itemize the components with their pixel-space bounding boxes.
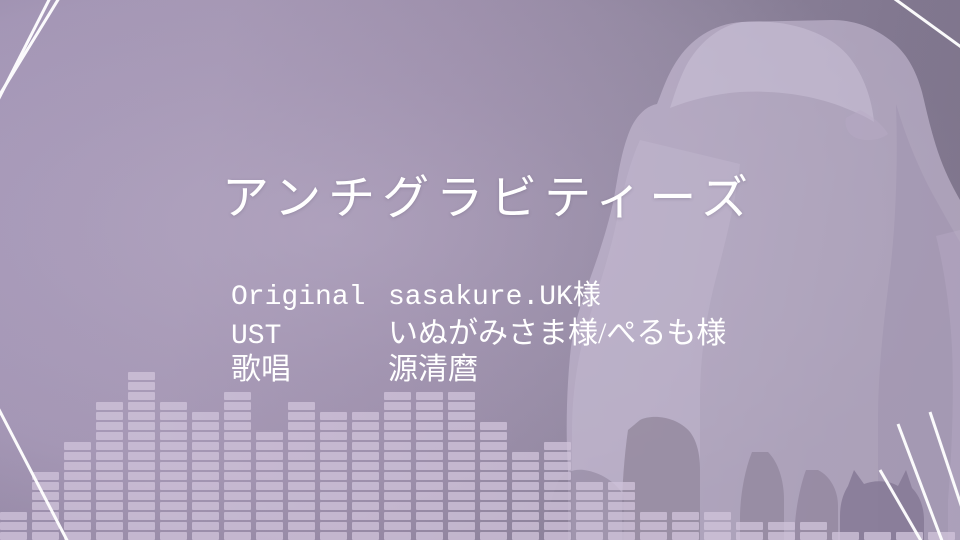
equalizer-bar <box>352 412 379 540</box>
equalizer-segment <box>448 412 475 420</box>
equalizer-segment <box>736 532 763 540</box>
equalizer-bar <box>640 512 667 540</box>
equalizer-segment <box>256 462 283 470</box>
equalizer-segment <box>32 482 59 490</box>
equalizer-segment <box>448 402 475 410</box>
equalizer-segment <box>416 402 443 410</box>
equalizer-segment <box>224 442 251 450</box>
equalizer-segment <box>128 402 155 410</box>
equalizer-segment <box>128 422 155 430</box>
equalizer-segment <box>352 422 379 430</box>
equalizer-segment <box>64 532 91 540</box>
equalizer-bar <box>896 532 923 540</box>
equalizer-bar <box>576 482 603 540</box>
equalizer-bar <box>800 522 827 540</box>
equalizer-segment <box>480 432 507 440</box>
equalizer-segment <box>608 522 635 530</box>
equalizer-segment <box>256 452 283 460</box>
equalizer-bar <box>384 392 411 540</box>
equalizer-segment <box>96 412 123 420</box>
equalizer-segment <box>672 532 699 540</box>
equalizer-segment <box>64 492 91 500</box>
equalizer-segment <box>64 522 91 530</box>
equalizer-segment <box>512 532 539 540</box>
equalizer-segment <box>160 432 187 440</box>
equalizer-segment <box>96 522 123 530</box>
credit-role-label: UST <box>231 319 388 355</box>
equalizer-segment <box>320 422 347 430</box>
equalizer-segment <box>352 472 379 480</box>
equalizer-segment <box>288 422 315 430</box>
equalizer-segment <box>576 502 603 510</box>
equalizer-segment <box>32 532 59 540</box>
equalizer-segment <box>384 392 411 400</box>
equalizer-segment <box>544 462 571 470</box>
equalizer-segment <box>128 392 155 400</box>
equalizer-segment <box>224 472 251 480</box>
equalizer-segment <box>64 452 91 460</box>
equalizer-segment <box>256 472 283 480</box>
equalizer-segment <box>704 532 731 540</box>
equalizer-segment <box>160 522 187 530</box>
equalizer-segment <box>192 432 219 440</box>
equalizer-segment <box>352 432 379 440</box>
credit-role-label: Original <box>231 280 388 316</box>
equalizer-segment <box>352 452 379 460</box>
equalizer-segment <box>416 432 443 440</box>
equalizer-segment <box>224 392 251 400</box>
equalizer-segment <box>192 452 219 460</box>
equalizer-segment <box>800 522 827 530</box>
equalizer-segment <box>256 482 283 490</box>
equalizer-segment <box>256 442 283 450</box>
equalizer-segment <box>128 482 155 490</box>
equalizer-segment <box>96 422 123 430</box>
equalizer-segment <box>768 522 795 530</box>
equalizer-segment <box>160 502 187 510</box>
equalizer-segment <box>192 502 219 510</box>
equalizer-segment <box>896 532 923 540</box>
credit-row: Original sasakure.UK様 <box>231 280 726 316</box>
equalizer-segment <box>416 392 443 400</box>
equalizer-segment <box>608 512 635 520</box>
equalizer-segment <box>288 432 315 440</box>
equalizer-segment <box>256 432 283 440</box>
equalizer-bar <box>192 412 219 540</box>
equalizer-bar <box>448 392 475 540</box>
equalizer-segment <box>224 512 251 520</box>
equalizer-segment <box>480 442 507 450</box>
credit-value-label: sasakure.UK様 <box>388 280 601 316</box>
equalizer-segment <box>544 482 571 490</box>
equalizer-segment <box>96 532 123 540</box>
equalizer-segment <box>192 412 219 420</box>
equalizer-segment <box>224 402 251 410</box>
equalizer-segment <box>288 482 315 490</box>
equalizer-segment <box>384 402 411 410</box>
equalizer-segment <box>128 522 155 530</box>
equalizer-segment <box>768 532 795 540</box>
equalizer-segment <box>224 522 251 530</box>
equalizer-segment <box>192 532 219 540</box>
equalizer-segment <box>224 412 251 420</box>
equalizer-segment <box>128 372 155 380</box>
equalizer-segment <box>384 462 411 470</box>
equalizer-segment <box>64 442 91 450</box>
equalizer-segment <box>704 522 731 530</box>
equalizer-segment <box>544 442 571 450</box>
equalizer-segment <box>512 522 539 530</box>
equalizer-segment <box>448 472 475 480</box>
equalizer-segment <box>416 512 443 520</box>
equalizer-segment <box>640 512 667 520</box>
equalizer-segment <box>416 482 443 490</box>
equalizer-segment <box>448 512 475 520</box>
equalizer-segment <box>320 472 347 480</box>
equalizer-segment <box>224 432 251 440</box>
equalizer-segment <box>192 462 219 470</box>
equalizer-segment <box>672 512 699 520</box>
equalizer-segment <box>64 502 91 510</box>
equalizer-segment <box>480 502 507 510</box>
equalizer-bar <box>544 442 571 540</box>
equalizer-segment <box>32 472 59 480</box>
equalizer-segment <box>480 452 507 460</box>
equalizer-segment <box>544 472 571 480</box>
title-card: アンチグラビティーズ Original sasakure.UK様 UST いぬが… <box>0 0 960 540</box>
equalizer-segment <box>160 422 187 430</box>
equalizer-segment <box>128 382 155 390</box>
equalizer-segment <box>480 472 507 480</box>
equalizer-segment <box>864 532 891 540</box>
credit-role-label: 歌唱 <box>231 352 388 388</box>
equalizer-segment <box>256 522 283 530</box>
credit-value-label: いぬがみさま様/ぺるも様 <box>388 316 726 352</box>
equalizer-segment <box>288 512 315 520</box>
equalizer-segment <box>320 432 347 440</box>
equalizer-segment <box>608 492 635 500</box>
equalizer-bar <box>32 472 59 540</box>
equalizer-segment <box>544 532 571 540</box>
equalizer-segment <box>608 502 635 510</box>
equalizer-segment <box>384 482 411 490</box>
equalizer-segment <box>448 482 475 490</box>
equalizer-segment <box>384 432 411 440</box>
equalizer-segment <box>160 472 187 480</box>
equalizer-segment <box>352 502 379 510</box>
equalizer-segment <box>160 462 187 470</box>
equalizer-segment <box>448 492 475 500</box>
equalizer-segment <box>448 392 475 400</box>
equalizer-segment <box>576 482 603 490</box>
equalizer-segment <box>128 412 155 420</box>
equalizer-bar <box>256 432 283 540</box>
equalizer-segment <box>640 522 667 530</box>
equalizer-segment <box>64 512 91 520</box>
equalizer-segment <box>384 492 411 500</box>
equalizer-segment <box>512 502 539 510</box>
equalizer-bar <box>64 442 91 540</box>
equalizer-segment <box>448 532 475 540</box>
equalizer-bar <box>704 512 731 540</box>
equalizer-segment <box>384 472 411 480</box>
equalizer-segment <box>224 462 251 470</box>
equalizer-segment <box>448 462 475 470</box>
equalizer-segment <box>416 452 443 460</box>
equalizer-segment <box>544 452 571 460</box>
equalizer-segment <box>480 462 507 470</box>
equalizer-segment <box>32 492 59 500</box>
equalizer-segment <box>480 492 507 500</box>
equalizer-segment <box>416 462 443 470</box>
equalizer-segment <box>160 512 187 520</box>
equalizer-segment <box>736 522 763 530</box>
equalizer-bar <box>224 392 251 540</box>
equalizer-segment <box>256 492 283 500</box>
equalizer-segment <box>320 452 347 460</box>
equalizer-segment <box>320 502 347 510</box>
equalizer-segment <box>384 452 411 460</box>
equalizer-segment <box>64 472 91 480</box>
equalizer-segment <box>192 442 219 450</box>
equalizer-segment <box>96 402 123 410</box>
equalizer-segment <box>224 532 251 540</box>
equalizer-segment <box>160 492 187 500</box>
equalizer-segment <box>416 472 443 480</box>
equalizer-bar <box>416 392 443 540</box>
equalizer-segment <box>352 492 379 500</box>
equalizer-segment <box>192 522 219 530</box>
equalizer-segment <box>416 492 443 500</box>
equalizer-segment <box>288 412 315 420</box>
equalizer-segment <box>384 412 411 420</box>
equalizer-segment <box>512 452 539 460</box>
equalizer-segment <box>352 512 379 520</box>
equalizer-segment <box>320 522 347 530</box>
equalizer-segment <box>480 532 507 540</box>
equalizer-segment <box>352 522 379 530</box>
equalizer-segment <box>512 462 539 470</box>
equalizer-segment <box>128 532 155 540</box>
equalizer-segment <box>160 402 187 410</box>
equalizer-bar <box>288 402 315 540</box>
song-title: アンチグラビティーズ <box>222 172 755 226</box>
equalizer-bar <box>864 532 891 540</box>
equalizer-segment <box>96 452 123 460</box>
credit-value-label: 源清麿 <box>388 352 478 388</box>
equalizer-segment <box>576 512 603 520</box>
equalizer-segment <box>448 452 475 460</box>
equalizer-segment <box>192 472 219 480</box>
equalizer-segment <box>128 492 155 500</box>
equalizer-segment <box>448 432 475 440</box>
equalizer-segment <box>320 412 347 420</box>
equalizer-segment <box>288 452 315 460</box>
equalizer-segment <box>224 452 251 460</box>
equalizer-segment <box>320 442 347 450</box>
equalizer-segment <box>288 472 315 480</box>
equalizer-segment <box>160 532 187 540</box>
equalizer-segment <box>96 512 123 520</box>
equalizer-bar <box>480 422 507 540</box>
equalizer-segment <box>256 532 283 540</box>
equalizer-segment <box>480 512 507 520</box>
equalizer-segment <box>352 442 379 450</box>
equalizer-segment <box>224 492 251 500</box>
credit-row: 歌唱 源清麿 <box>231 352 726 388</box>
equalizer-segment <box>224 482 251 490</box>
equalizer-bar <box>928 532 955 540</box>
equalizer-segment <box>288 462 315 470</box>
equalizer-segment <box>416 522 443 530</box>
equalizer-segment <box>416 502 443 510</box>
equalizer-segment <box>576 492 603 500</box>
equalizer-segment <box>96 442 123 450</box>
equalizer-segment <box>128 512 155 520</box>
equalizer-segment <box>800 532 827 540</box>
equalizer-segment <box>32 502 59 510</box>
equalizer-segment <box>416 442 443 450</box>
equalizer-segment <box>640 532 667 540</box>
equalizer-segment <box>320 482 347 490</box>
equalizer-bar <box>768 522 795 540</box>
equalizer-segment <box>512 492 539 500</box>
equalizer-segment <box>160 482 187 490</box>
equalizer-segment <box>544 522 571 530</box>
equalizer-segment <box>288 492 315 500</box>
equalizer-segment <box>288 522 315 530</box>
equalizer-segment <box>192 492 219 500</box>
equalizer-segment <box>96 462 123 470</box>
equalizer-segment <box>384 502 411 510</box>
equalizer-segment <box>192 512 219 520</box>
equalizer-segment <box>128 462 155 470</box>
equalizer-segment <box>448 522 475 530</box>
equalizer-segment <box>0 532 27 540</box>
equalizer-segment <box>128 472 155 480</box>
equalizer-segment <box>384 512 411 520</box>
equalizer-segment <box>96 492 123 500</box>
equalizer-segment <box>256 502 283 510</box>
equalizer-segment <box>320 532 347 540</box>
equalizer-bar <box>96 402 123 540</box>
equalizer-bar <box>160 402 187 540</box>
equalizer-segment <box>288 442 315 450</box>
equalizer-segment <box>608 532 635 540</box>
equalizer-segment <box>192 422 219 430</box>
equalizer-bar <box>736 522 763 540</box>
equalizer-segment <box>96 482 123 490</box>
equalizer-segment <box>832 532 859 540</box>
equalizer-segment <box>96 502 123 510</box>
equalizer-segment <box>384 532 411 540</box>
equalizer-segment <box>512 512 539 520</box>
equalizer-segment <box>96 472 123 480</box>
equalizer-segment <box>384 442 411 450</box>
equalizer-segment <box>672 522 699 530</box>
equalizer-segment <box>416 422 443 430</box>
equalizer-segment <box>96 432 123 440</box>
equalizer-bar <box>0 512 27 540</box>
equalizer-segment <box>448 442 475 450</box>
equalizer-segment <box>608 482 635 490</box>
equalizer-segment <box>416 532 443 540</box>
equalizer-bar <box>512 452 539 540</box>
equalizer-segment <box>192 482 219 490</box>
equalizer-segment <box>224 502 251 510</box>
equalizer-segment <box>160 412 187 420</box>
equalizer-segment <box>576 522 603 530</box>
equalizer-segment <box>320 492 347 500</box>
equalizer-segment <box>128 432 155 440</box>
equalizer-segment <box>928 532 955 540</box>
equalizer-segment <box>160 442 187 450</box>
equalizer-segment <box>352 532 379 540</box>
equalizer-bar <box>320 412 347 540</box>
equalizer-segment <box>480 482 507 490</box>
equalizer-segment <box>544 512 571 520</box>
equalizer-segment <box>480 422 507 430</box>
equalizer-segment <box>384 522 411 530</box>
equalizer-segment <box>352 412 379 420</box>
equalizer-segment <box>288 532 315 540</box>
equalizer-segment <box>544 492 571 500</box>
equalizer-segment <box>448 502 475 510</box>
equalizer-segment <box>704 512 731 520</box>
equalizer-bar <box>128 372 155 540</box>
equalizer-segment <box>576 532 603 540</box>
equalizer-segment <box>32 512 59 520</box>
equalizer-segment <box>480 522 507 530</box>
equalizer-segment <box>160 452 187 460</box>
credit-row: UST いぬがみさま様/ぺるも様 <box>231 316 726 352</box>
equalizer-segment <box>0 512 27 520</box>
equalizer-segment <box>512 472 539 480</box>
equalizer-segment <box>416 412 443 420</box>
equalizer-segment <box>288 502 315 510</box>
equalizer-segment <box>128 502 155 510</box>
equalizer-segment <box>448 422 475 430</box>
equalizer-bar <box>832 532 859 540</box>
equalizer-segment <box>128 452 155 460</box>
equalizer-segment <box>64 462 91 470</box>
equalizer-segment <box>128 442 155 450</box>
equalizer-segment <box>288 402 315 410</box>
equalizer-segment <box>352 462 379 470</box>
equalizer-segment <box>320 512 347 520</box>
equalizer-segment <box>512 482 539 490</box>
equalizer-segment <box>384 422 411 430</box>
equalizer-bar <box>672 512 699 540</box>
credits-block: Original sasakure.UK様 UST いぬがみさま様/ぺるも様 歌… <box>231 280 726 388</box>
equalizer-segment <box>256 512 283 520</box>
equalizer-segment <box>544 502 571 510</box>
equalizer-segment <box>352 482 379 490</box>
equalizer-bar <box>608 482 635 540</box>
equalizer-segment <box>0 522 27 530</box>
equalizer-segment <box>64 482 91 490</box>
equalizer-segment <box>224 422 251 430</box>
equalizer-segment <box>320 462 347 470</box>
equalizer-segment <box>32 522 59 530</box>
